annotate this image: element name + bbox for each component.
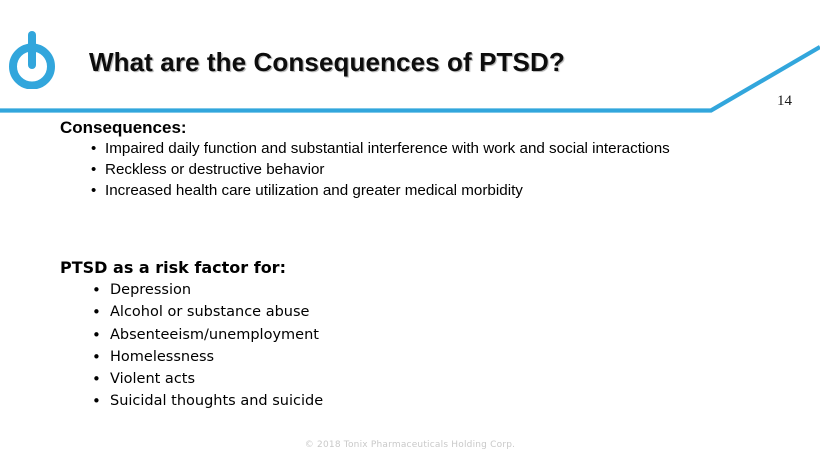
list-item: • Violent acts bbox=[0, 368, 760, 390]
list-item-label: Absenteeism/unemployment bbox=[110, 324, 760, 346]
list-item-label: Homelessness bbox=[110, 346, 760, 368]
bullet-point-icon: • bbox=[92, 301, 101, 323]
list-item: • Increased health care utilization and … bbox=[0, 181, 760, 201]
page-title: What are the Consequences of PTSD? bbox=[89, 47, 565, 78]
list-item-label: Violent acts bbox=[110, 368, 760, 390]
bullet-point-icon: • bbox=[92, 279, 101, 301]
bullet-point-icon: • bbox=[92, 346, 101, 368]
list-item: • Impaired daily function and substantia… bbox=[0, 139, 760, 159]
bullet-point-icon: • bbox=[92, 368, 101, 390]
bullet-point-icon: • bbox=[91, 139, 96, 159]
section-heading-risk-factor: PTSD as a risk factor for: bbox=[0, 257, 760, 278]
slide-header: What are the Consequences of PTSD? 14 bbox=[0, 0, 820, 115]
page-number: 14 bbox=[777, 93, 792, 110]
list-item: • Homelessness bbox=[0, 346, 760, 368]
list-item-label: Suicidal thoughts and suicide bbox=[110, 390, 760, 412]
section-consequences: Consequences: • Impaired daily function … bbox=[0, 117, 760, 202]
tonix-logo-icon bbox=[9, 29, 55, 89]
bullet-point-icon: • bbox=[91, 160, 96, 180]
bullet-point-icon: • bbox=[92, 390, 101, 412]
bullet-list-consequences: • Impaired daily function and substantia… bbox=[0, 139, 760, 201]
list-item: • Suicidal thoughts and suicide bbox=[0, 390, 760, 412]
list-item: • Absenteeism/unemployment bbox=[0, 324, 760, 346]
section-heading-consequences: Consequences: bbox=[0, 117, 760, 138]
section-risk-factor: PTSD as a risk factor for: • Depression … bbox=[0, 257, 760, 413]
list-item-label: Increased health care utilization and gr… bbox=[105, 181, 760, 201]
bullet-list-risk-factor: • Depression • Alcohol or substance abus… bbox=[0, 279, 760, 413]
slide-body: Consequences: • Impaired daily function … bbox=[0, 115, 820, 431]
list-item-label: Depression bbox=[110, 279, 760, 301]
list-item-label: Impaired daily function and substantial … bbox=[105, 139, 760, 159]
list-item: • Alcohol or substance abuse bbox=[0, 301, 760, 323]
presentation-slide: What are the Consequences of PTSD? 14 Co… bbox=[0, 0, 820, 461]
footer-copyright: © 2018 Tonix Pharmaceuticals Holding Cor… bbox=[0, 440, 820, 450]
bullet-point-icon: • bbox=[91, 181, 96, 201]
bullet-point-icon: • bbox=[92, 324, 101, 346]
list-item-label: Alcohol or substance abuse bbox=[110, 301, 760, 323]
list-item-label: Reckless or destructive behavior bbox=[105, 160, 760, 180]
list-item: • Depression bbox=[0, 279, 760, 301]
list-item: • Reckless or destructive behavior bbox=[0, 160, 760, 180]
